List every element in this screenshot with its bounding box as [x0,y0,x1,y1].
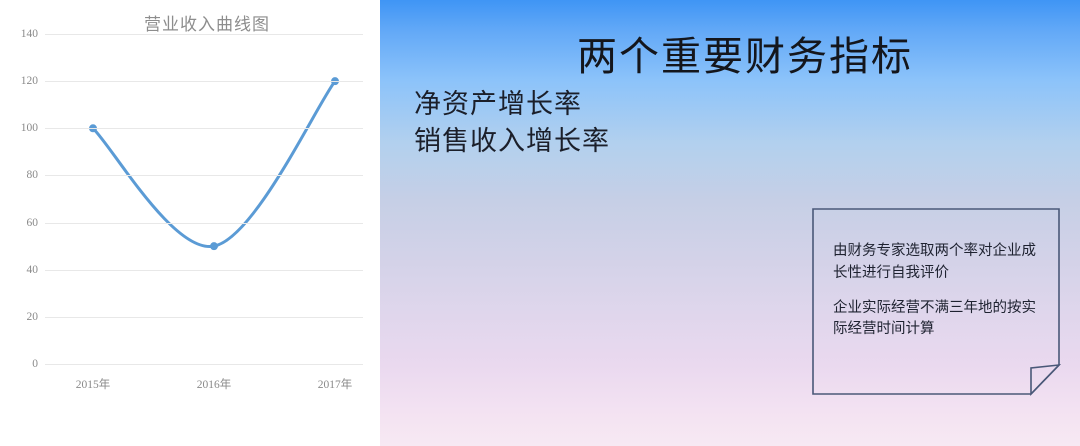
note-paragraph-1: 由财务专家选取两个率对企业成长性进行自我评价 [833,241,1038,285]
x-axis-tick-label: 2016年 [197,376,232,392]
slide-page: 营业收入曲线图 1401201008060402002015年2016年2017… [0,0,1080,446]
kpi-list: 净资产增长率 销售收入增长率 [414,86,610,161]
slide-title: 两个重要财务指标 [380,24,1080,82]
chart-gridline [45,364,363,365]
y-axis-tick-label: 0 [32,358,38,370]
y-axis-tick-label: 80 [27,169,39,181]
note-box-text: 由财务专家选取两个率对企业成长性进行自我评价 企业实际经营不满三年地的按实际经营… [833,241,1038,341]
note-paragraph-2: 企业实际经营不满三年地的按实际经营时间计算 [833,298,1038,342]
chart-gridline [45,81,363,82]
y-axis-tick-label: 40 [27,264,39,276]
y-axis-tick-label: 140 [21,28,38,40]
kpi-item-sales-growth: 销售收入增长率 [414,123,610,160]
chart-gridline [45,128,363,129]
kpi-item-net-asset-growth: 净资产增长率 [414,86,610,123]
y-axis-tick-label: 20 [27,311,39,323]
chart-title: 营业收入曲线图 [0,10,380,35]
chart-gridline [45,175,363,176]
chart-gridline [45,317,363,318]
y-axis-tick-label: 60 [27,217,39,229]
financial-indicators-slide: 两个重要财务指标 净资产增长率 销售收入增长率 由财务专家选取两个率对企业成长性… [380,0,1080,446]
chart-data-point [210,242,218,250]
chart-series-svg [45,34,363,364]
y-axis-tick-label: 120 [21,75,38,87]
chart-gridline [45,34,363,35]
revenue-chart-panel: 营业收入曲线图 1401201008060402002015年2016年2017… [0,0,380,446]
y-axis-tick-label: 100 [21,122,38,134]
x-axis-tick-label: 2017年 [318,376,353,392]
chart-gridline [45,223,363,224]
chart-plot-area: 1401201008060402002015年2016年2017年 [45,34,363,364]
chart-gridline [45,270,363,271]
x-axis-tick-label: 2015年 [76,376,111,392]
